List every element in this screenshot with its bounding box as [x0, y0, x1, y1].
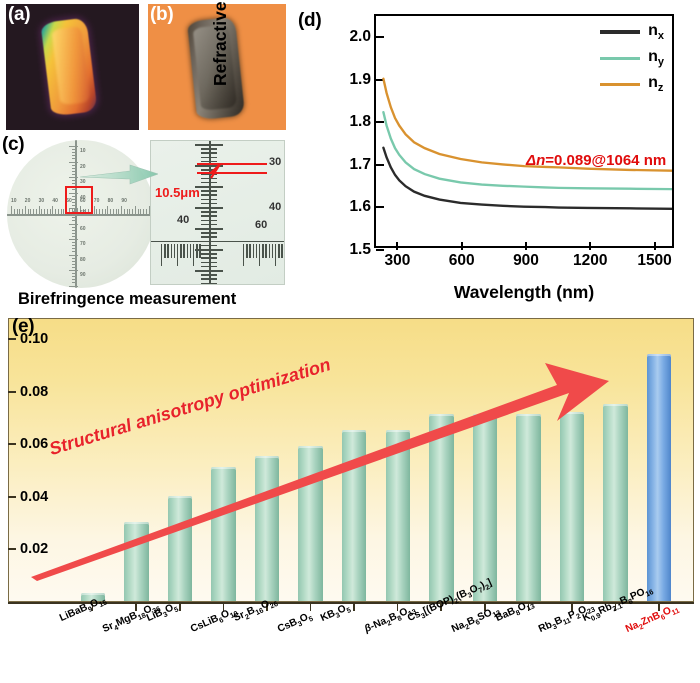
d-legend-label: nz	[648, 74, 663, 94]
e-y-tick-mark	[8, 391, 16, 393]
d-x-tick-label: 1200	[573, 252, 607, 270]
bar-Na2ZnB6O11[interactable]	[647, 354, 671, 601]
d-legend-item-n_y[interactable]: ny	[600, 48, 664, 68]
panel-c-birefringence-measurement: (c) 102030405060708090102030405060708090…	[0, 134, 290, 312]
d-legend-swatch	[600, 57, 640, 60]
panel-c-caption: Birefringence measurement	[18, 290, 236, 309]
reticle-h-number: 70	[94, 198, 100, 204]
e-y-tick-mark	[8, 496, 16, 498]
inset-scale-number-30: 30	[269, 156, 281, 168]
reticle-v-number: 80	[80, 257, 86, 263]
inset-horizontal-line	[151, 241, 284, 242]
d-y-tick-mark	[376, 249, 384, 251]
reticle-v-number: 90	[80, 272, 86, 278]
d-y-tick-label: 1.5	[349, 241, 371, 259]
e-x-tick-mark	[353, 602, 355, 611]
panel-e-label: (e)	[12, 316, 34, 338]
e-y-tick-mark	[8, 338, 16, 340]
e-x-label-CsLiB6O10: CsLiB6O10	[189, 605, 239, 637]
panel-a-label: (a)	[8, 4, 30, 26]
d-x-tick-label: 900	[513, 252, 539, 270]
panel-b-label: (b)	[150, 4, 173, 26]
e-x-label-Na2B6SO13: Na2B6SO13	[450, 604, 502, 637]
reticle-v-number: 60	[80, 226, 86, 232]
e-y-tick-mark	[8, 443, 16, 445]
reticle-h-number: 30	[39, 198, 45, 204]
d-legend-item-n_z[interactable]: nz	[600, 74, 664, 94]
inset-scale-number-40-right: 40	[269, 201, 281, 213]
bar-β-Na2B8O13[interactable]	[386, 430, 410, 601]
d-x-axis-label: Wavelength (nm)	[374, 282, 674, 303]
e-y-tick-mark	[8, 548, 16, 550]
thickness-label: 10.5μm	[155, 185, 200, 200]
panel-c-label: (c)	[2, 134, 24, 156]
d-y-tick-label: 1.7	[349, 156, 371, 174]
d-legend-item-n_x[interactable]: nx	[600, 22, 664, 42]
e-y-tick-label: 0.04	[20, 489, 48, 505]
d-legend: nxnynz	[600, 22, 664, 101]
measure-arrow-icon	[205, 162, 223, 182]
bar-Na2B6SO13[interactable]	[473, 414, 497, 601]
reticle-h-number: 20	[25, 198, 31, 204]
e-plot-area: Structural anisotropy optimization	[8, 318, 694, 602]
bar-Rb3B11P2O23[interactable]	[560, 412, 584, 601]
e-x-tick-mark	[179, 602, 181, 611]
e-y-tick-label: 0.02	[20, 541, 48, 557]
d-y-tick-label: 1.6	[349, 198, 371, 216]
d-y-tick-label: 1.9	[349, 71, 371, 89]
e-x-label-KB3O5: KB3O5	[319, 602, 352, 626]
d-legend-label: nx	[648, 22, 664, 42]
bar-Sr2B16O26[interactable]	[255, 456, 279, 601]
region-of-interest-box	[65, 186, 93, 214]
panel-d-refractive-index-chart: (d) Refractive Index 1.51.61.71.81.92.0 …	[294, 2, 700, 312]
inset-scale-number-40-left: 40	[177, 214, 189, 226]
d-birefringence-annotation: Δn=0.089@1064 nm	[526, 152, 666, 169]
bar-Cs3[(BOP)2(B3O7)2][interactable]	[429, 414, 453, 601]
bar-CsLiB6O10[interactable]	[211, 467, 235, 601]
e-x-tick-mark	[310, 602, 312, 611]
reticle-h-number: 80	[108, 198, 114, 204]
reticle-zoom-inset: 10.5μm 30 40 40 60	[150, 140, 285, 285]
e-x-label-CsB3O5: CsB3O5	[276, 610, 314, 637]
e-x-label-Na2ZnB6O11: Na2ZnB6O11	[624, 602, 681, 637]
e-bars-container	[9, 319, 693, 601]
d-curve-n_y	[383, 112, 672, 189]
panel-d-label: (d)	[298, 10, 321, 32]
d-x-tick-label: 300	[384, 252, 410, 270]
d-legend-swatch	[600, 83, 640, 86]
reticle-h-number: 40	[52, 198, 58, 204]
bar-Sr4MgB18O36[interactable]	[124, 522, 148, 601]
reticle-v-number: 10	[80, 148, 86, 154]
d-x-tick-label: 600	[449, 252, 475, 270]
d-legend-label: ny	[648, 48, 664, 68]
bar-CsB3O5[interactable]	[298, 446, 322, 601]
zoom-callout-arrow-icon	[80, 162, 158, 188]
inset-scale-number-60: 60	[255, 219, 267, 231]
d-plot-area: 1.51.61.71.81.92.0 30060090012001500 nxn…	[374, 14, 674, 248]
e-y-tick-label: 0.06	[20, 436, 48, 452]
d-y-axis-label: Refractive Index	[210, 0, 231, 86]
bar-BaB8O13[interactable]	[516, 414, 540, 601]
e-y-tick-label: 0.08	[20, 384, 48, 400]
d-y-tick-label: 2.0	[349, 28, 371, 46]
panel-e-birefringence-comparison-chart: (e) Structural anisotropy optimization 0…	[4, 314, 698, 680]
bar-LiB3O5[interactable]	[168, 496, 192, 601]
reticle-v-number: 70	[80, 241, 86, 247]
bar-KB3O5[interactable]	[342, 430, 366, 601]
reticle-h-number: 90	[121, 198, 127, 204]
crystal-image-a	[40, 18, 97, 117]
reticle-h-number: 10	[11, 198, 17, 204]
d-legend-swatch	[600, 30, 640, 33]
d-y-tick-label: 1.8	[349, 113, 371, 131]
bar-K0.9Rb2.1B8PO16[interactable]	[603, 404, 627, 601]
d-x-tick-label: 1500	[637, 252, 671, 270]
